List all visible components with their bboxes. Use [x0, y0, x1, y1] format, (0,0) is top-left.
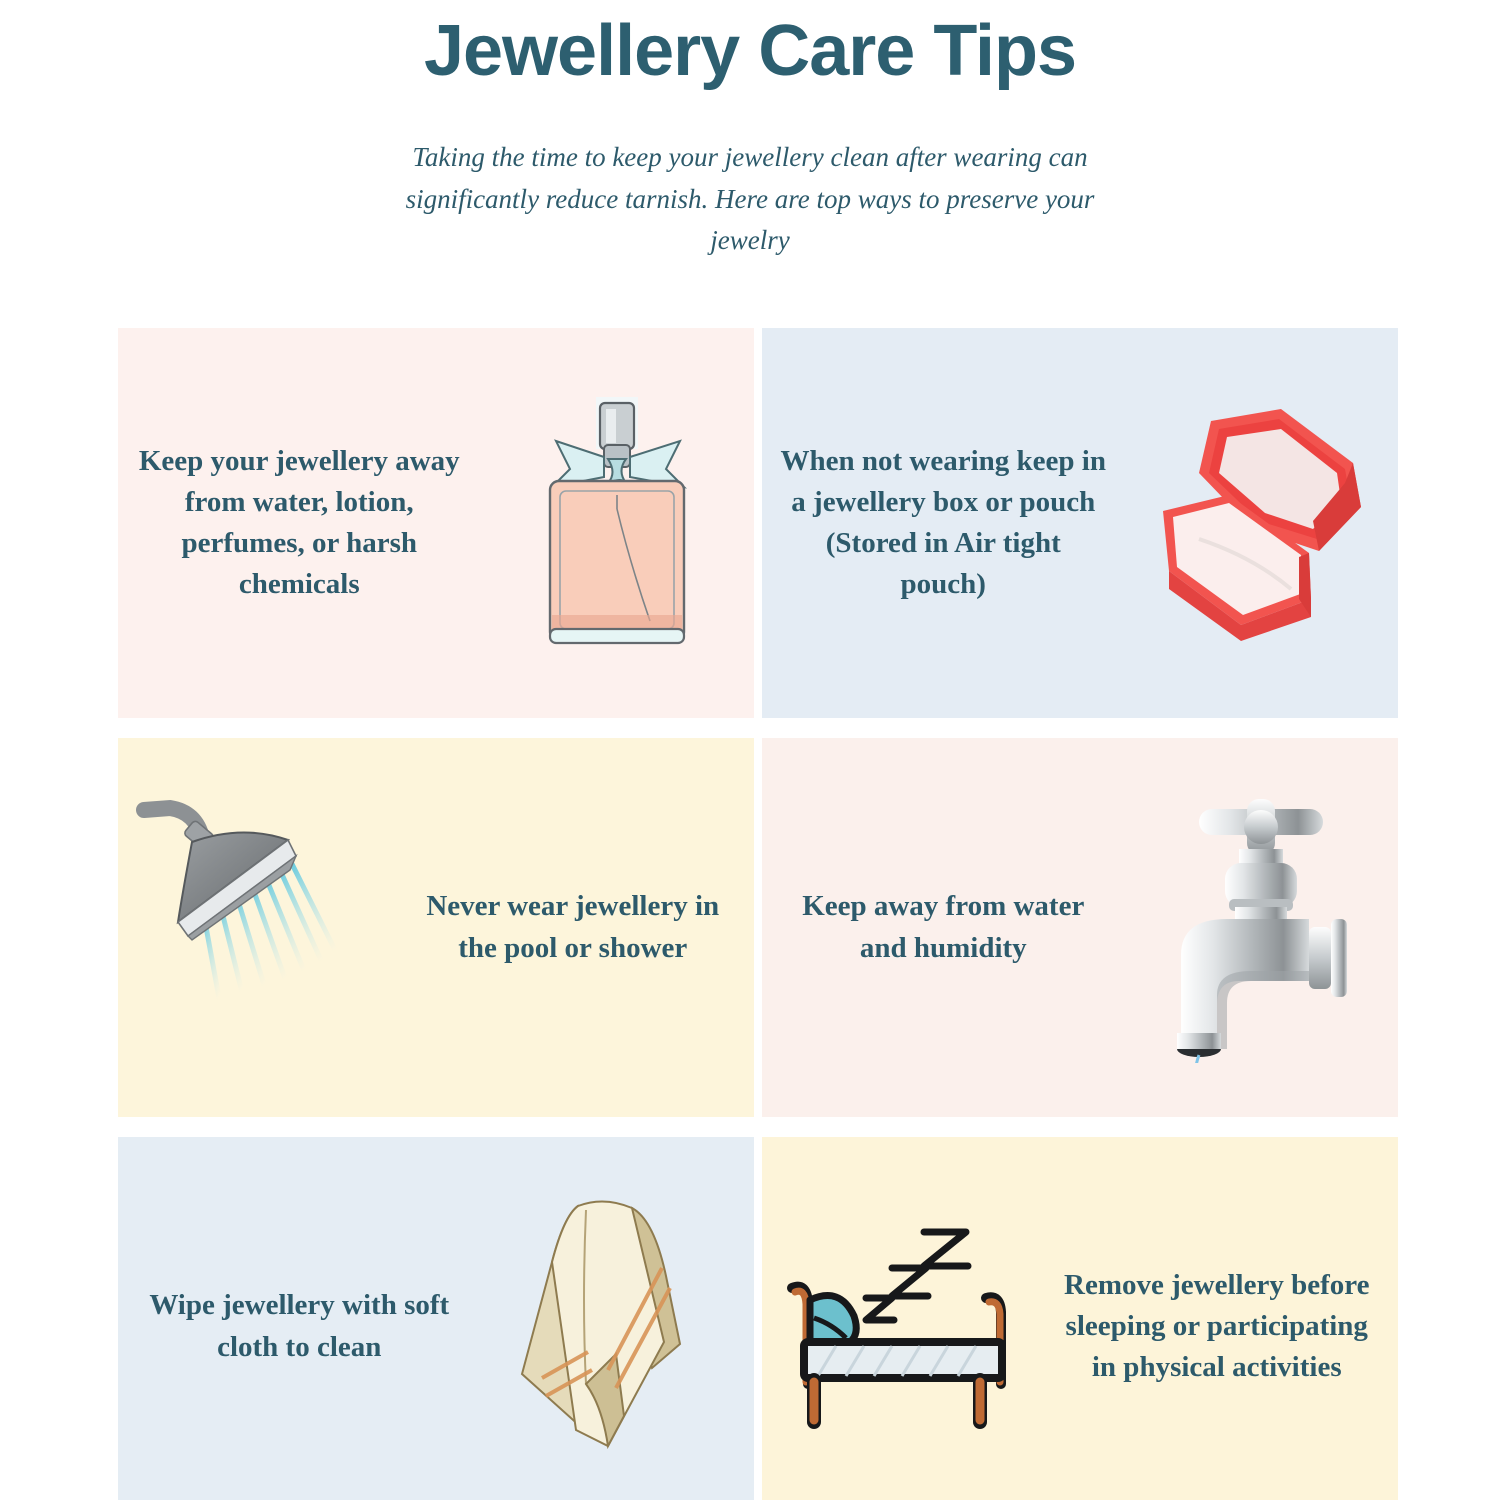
- tip-card-text: When not wearing keep in a jewellery box…: [762, 441, 1125, 606]
- tip-card-text: Keep away from water and humidity: [762, 886, 1125, 968]
- tip-card-text: Remove jewellery before sleeping or part…: [1035, 1265, 1398, 1389]
- tip-card-text: Wipe jewellery with soft cloth to clean: [118, 1285, 481, 1367]
- page-subtitle: Taking the time to keep your jewellery c…: [400, 137, 1100, 263]
- infographic-page: Jewellery Care Tips Taking the time to k…: [0, 0, 1500, 1500]
- bed-sleeping-icon: [774, 1222, 1024, 1432]
- tip-card-chemicals[interactable]: Keep your jewellery away from water, lot…: [118, 328, 754, 718]
- page-title: Jewellery Care Tips: [0, 10, 1500, 93]
- tip-card-storage[interactable]: When not wearing keep in a jewellery box…: [762, 328, 1398, 718]
- tip-card-pool-shower[interactable]: Never wear jewellery in the pool or show…: [118, 738, 754, 1117]
- perfume-bottle-icon: [512, 383, 722, 663]
- tip-card-illustration: [762, 1137, 1035, 1500]
- tip-card-illustration: [118, 738, 391, 1117]
- tip-card-illustration: [481, 328, 754, 718]
- tip-card-water-humidity[interactable]: Keep away from water and humidity: [762, 738, 1398, 1117]
- tip-card-illustration: [481, 1137, 754, 1500]
- tip-card-illustration: [1125, 328, 1398, 718]
- tip-card-text: Never wear jewellery in the pool or show…: [391, 886, 754, 968]
- cleaning-cloth-icon: [512, 1192, 722, 1462]
- tip-card-soft-cloth[interactable]: Wipe jewellery with soft cloth to clean: [118, 1137, 754, 1500]
- tip-card-illustration: [1125, 738, 1398, 1117]
- tip-card-sleep-activity[interactable]: Remove jewellery before sleeping or part…: [762, 1137, 1398, 1500]
- shower-head-icon: [130, 798, 380, 1058]
- tips-grid: Keep your jewellery away from water, lot…: [118, 328, 1388, 1476]
- header: Jewellery Care Tips Taking the time to k…: [0, 0, 1500, 262]
- ring-box-icon: [1141, 403, 1381, 643]
- faucet-drip-icon: [1151, 793, 1371, 1063]
- tip-card-text: Keep your jewellery away from water, lot…: [118, 441, 481, 606]
